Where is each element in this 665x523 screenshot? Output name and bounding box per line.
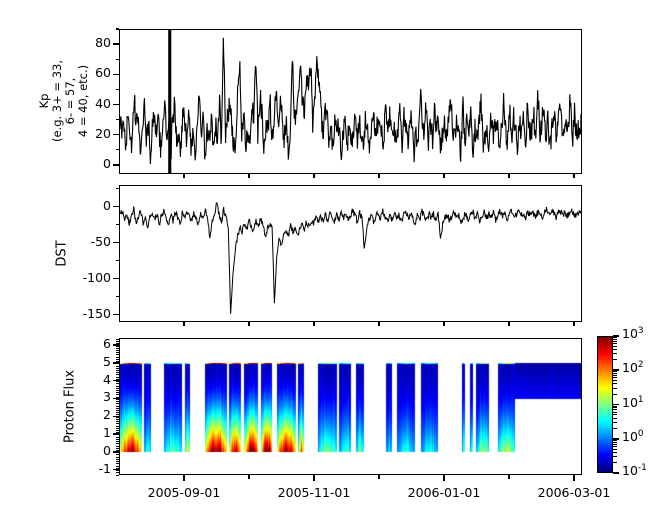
pf-yminortick [116, 363, 120, 364]
colorbar-minor-tick [613, 442, 617, 443]
pf-yminortick [116, 475, 120, 476]
colorbar-minor-tick [613, 380, 617, 381]
pf-yminortick [116, 457, 120, 458]
kp-ytick-1 [113, 134, 119, 135]
colorbar-tick-1 [613, 438, 619, 440]
colorbar-mantissa: 10 [622, 395, 638, 410]
pf-yminortick [116, 379, 120, 380]
colorbar-exponent: 3 [638, 326, 644, 336]
colorbar-mantissa: 10 [622, 326, 638, 341]
axis-annotations-layer: 0204060800-50-100-150-101234562005-09-01… [0, 0, 665, 523]
colorbar-minor-tick [613, 407, 617, 408]
panel1-xtick [313, 322, 314, 326]
colorbar-tick-label-0: 10-1 [622, 463, 647, 478]
colorbar-minor-tick [613, 375, 617, 376]
colorbar-tick-label-4: 103 [622, 326, 644, 341]
colorbar-minor-tick [613, 371, 617, 372]
panel0-xtick [443, 174, 444, 178]
panel0-xtick [313, 174, 314, 178]
spaceweather-figure: Kp (e.g. 3+ = 33, 6- = 57, 4 = 40, etc.)… [0, 0, 665, 523]
pf-yminortick [116, 390, 120, 391]
xtick-2 [443, 475, 444, 481]
kp-yminortick [116, 59, 120, 60]
panel0-xtick [508, 174, 509, 178]
colorbar-exponent: 1 [638, 395, 644, 405]
pf-yminortick [116, 430, 120, 431]
pf-yminortick [116, 423, 120, 424]
colorbar-minor-tick [613, 353, 617, 354]
pf-yminortick [116, 341, 120, 342]
kp-yminortick [116, 28, 120, 29]
kp-ytick-0 [113, 164, 119, 165]
pf-yminortick [116, 441, 120, 442]
colorbar-tick-3 [613, 369, 619, 371]
colorbar-minor-tick [613, 359, 617, 360]
pf-yminortick [116, 406, 120, 407]
colorbar-minor-tick [613, 337, 617, 338]
pf-yminortick [116, 401, 120, 402]
colorbar-minor-tick [613, 373, 617, 374]
pf-yminortick [116, 383, 120, 384]
dst-ytick-1 [113, 242, 119, 243]
colorbar-minor-tick [613, 440, 617, 441]
colorbar-minor-tick [613, 446, 617, 447]
colorbar-minor-tick [613, 449, 617, 450]
pf-yminortick [116, 439, 120, 440]
panel0-xtick [248, 174, 249, 178]
xtick-1 [313, 475, 314, 481]
pf-yminortick [116, 392, 120, 393]
pf-yminortick [116, 359, 120, 360]
dst-ytick-label-2: -100 [51, 270, 111, 285]
colorbar-exponent: 0 [638, 429, 644, 439]
colorbar-mantissa: 10 [622, 429, 638, 444]
colorbar-tick-2 [613, 404, 619, 406]
pf-yminortick [116, 399, 120, 400]
pf-yminortick [116, 377, 120, 378]
colorbar-minor-tick [613, 412, 617, 413]
pf-yminortick [116, 443, 120, 444]
pf-yminortick [116, 468, 120, 469]
dst-ytick-2 [113, 278, 119, 279]
pf-yminortick [116, 346, 120, 347]
pf-yminortick [116, 388, 120, 389]
colorbar-exponent: -1 [638, 463, 647, 473]
pf-yminortick [116, 421, 120, 422]
pf-yminortick [116, 357, 120, 358]
pf-ytick-label-3: 2 [51, 407, 111, 422]
colorbar-minor-tick [613, 406, 617, 407]
pf-yminortick [116, 459, 120, 460]
kp-yminortick [116, 119, 120, 120]
panel1-xtick [573, 322, 574, 326]
xtick-3 [573, 475, 574, 481]
colorbar-minor-tick [613, 414, 617, 415]
xtick-label-0: 2005-09-01 [124, 485, 244, 500]
pf-yminortick [116, 470, 120, 471]
pf-yminortick [116, 381, 120, 382]
colorbar-minor-tick [613, 343, 617, 344]
dst-yminortick [116, 260, 120, 261]
colorbar-minor-tick [613, 456, 617, 457]
kp-ytick-2 [113, 104, 119, 105]
pf-yminortick [116, 397, 120, 398]
pf-yminortick [116, 374, 120, 375]
pf-ytick-label-0: -1 [51, 461, 111, 476]
pf-ytick-label-4: 3 [51, 389, 111, 404]
pf-yminortick [116, 446, 120, 447]
colorbar-minor-tick [613, 422, 617, 423]
colorbar-mantissa: 10 [622, 463, 638, 478]
pf-yminortick [116, 448, 120, 449]
pf-yminortick [116, 348, 120, 349]
colorbar-tick-label-2: 101 [622, 395, 644, 410]
pf-yminortick [116, 437, 120, 438]
colorbar-tick-label-1: 100 [622, 429, 644, 444]
pf-yminortick [116, 350, 120, 351]
colorbar-minor-tick [613, 346, 617, 347]
pf-ytick-label-1: 0 [51, 443, 111, 458]
pf-yminortick [116, 463, 120, 464]
colorbar-minor-tick [613, 339, 617, 340]
kp-ytick-label-1: 20 [51, 126, 111, 141]
dst-ytick-0 [113, 206, 119, 207]
pf-yminortick [116, 472, 120, 473]
xminortick-0 [248, 475, 249, 479]
panel0-xtick [378, 174, 379, 178]
pf-yminortick [116, 434, 120, 435]
pf-yminortick [116, 461, 120, 462]
colorbar-minor-tick [613, 388, 617, 389]
kp-yminortick [116, 89, 120, 90]
pf-yminortick [116, 412, 120, 413]
kp-ytick-label-0: 0 [51, 156, 111, 171]
pf-yminortick [116, 466, 120, 467]
colorbar-minor-tick [613, 452, 617, 453]
pf-ytick-label-7: 6 [51, 336, 111, 351]
dst-yminortick [116, 224, 120, 225]
xtick-label-3: 2006-03-01 [514, 485, 634, 500]
colorbar-minor-tick [613, 444, 617, 445]
kp-ytick-label-2: 40 [51, 96, 111, 111]
pf-yminortick [116, 368, 120, 369]
pf-ytick-label-5: 4 [51, 372, 111, 387]
colorbar-minor-tick [613, 341, 617, 342]
pf-yminortick [116, 372, 120, 373]
panel0-xtick [573, 174, 574, 178]
pf-ytick-label-2: 1 [51, 425, 111, 440]
dst-ytick-label-1: -50 [51, 234, 111, 249]
colorbar-tick-0 [613, 472, 619, 474]
colorbar-minor-tick [613, 462, 617, 463]
colorbar-tick-label-3: 102 [622, 360, 644, 375]
pf-yminortick [116, 352, 120, 353]
colorbar-minor-tick [613, 383, 617, 384]
pf-yminortick [116, 426, 120, 427]
xtick-label-1: 2005-11-01 [254, 485, 374, 500]
pf-yminortick [116, 343, 120, 344]
kp-ytick-label-3: 60 [51, 65, 111, 80]
xminortick-2 [508, 475, 509, 479]
pf-yminortick [116, 452, 120, 453]
colorbar-minor-tick [613, 394, 617, 395]
colorbar-tick-4 [613, 335, 619, 337]
pf-yminortick [116, 354, 120, 355]
colorbar-minor-tick [613, 409, 617, 410]
dst-ytick-label-0: 0 [51, 198, 111, 213]
pf-yminortick [116, 370, 120, 371]
pf-yminortick [116, 410, 120, 411]
panel1-xtick [248, 322, 249, 326]
pf-yminortick [116, 432, 120, 433]
colorbar-mantissa: 10 [622, 360, 638, 375]
kp-ytick-3 [113, 74, 119, 75]
pf-yminortick [116, 361, 120, 362]
pf-yminortick [116, 414, 120, 415]
xtick-0 [183, 475, 184, 481]
dst-ytick-label-3: -150 [51, 306, 111, 321]
colorbar-minor-tick [613, 349, 617, 350]
pf-yminortick [116, 428, 120, 429]
panel1-xtick [183, 322, 184, 326]
dst-yminortick [116, 188, 120, 189]
pf-yminortick [116, 450, 120, 451]
pf-yminortick [116, 403, 120, 404]
xtick-label-2: 2006-01-01 [384, 485, 504, 500]
panel1-xtick [378, 322, 379, 326]
pf-yminortick [116, 408, 120, 409]
pf-yminortick [116, 419, 120, 420]
pf-ytick-label-6: 5 [51, 354, 111, 369]
dst-yminortick [116, 296, 120, 297]
kp-yminortick [116, 149, 120, 150]
colorbar-exponent: 2 [638, 360, 644, 370]
kp-ytick-4 [113, 43, 119, 44]
pf-yminortick [116, 386, 120, 387]
panel1-xtick [508, 322, 509, 326]
pf-yminortick [116, 394, 120, 395]
pf-yminortick [116, 339, 120, 340]
colorbar-minor-tick [613, 377, 617, 378]
pf-yminortick [116, 454, 120, 455]
pf-yminortick [116, 366, 120, 367]
colorbar-minor-tick [613, 418, 617, 419]
kp-ytick-label-4: 80 [51, 35, 111, 50]
pf-yminortick [116, 417, 120, 418]
panel1-xtick [443, 322, 444, 326]
panel0-xtick [183, 174, 184, 178]
xminortick-1 [378, 475, 379, 479]
dst-ytick-3 [113, 314, 119, 315]
colorbar-minor-tick [613, 428, 617, 429]
